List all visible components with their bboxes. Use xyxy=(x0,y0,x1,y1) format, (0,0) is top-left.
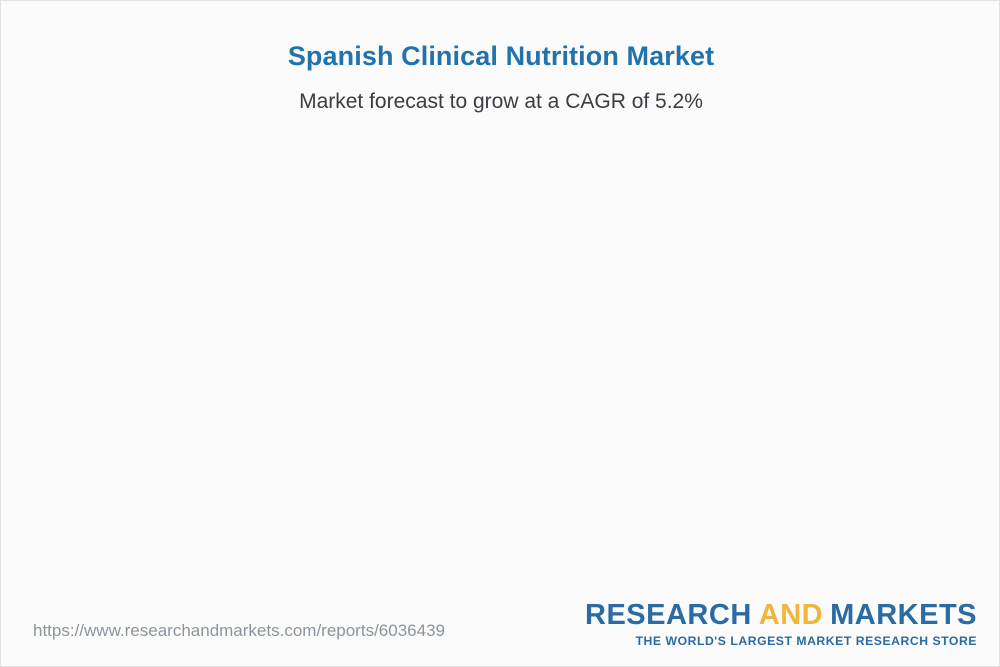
brand-tagline: THE WORLD'S LARGEST MARKET RESEARCH STOR… xyxy=(585,635,977,647)
chart-card: Spanish Clinical Nutrition Market Market… xyxy=(0,0,1000,667)
plot-area: USD 0.48 Million 2023 USD 0.66 Million xyxy=(1,1,1000,601)
brand-word-research: RESEARCH xyxy=(585,599,752,631)
brand-logo[interactable]: RESEARCHANDMARKETS THE WORLD'S LARGEST M… xyxy=(585,601,977,647)
brand-word-markets: MARKETS xyxy=(830,599,977,631)
brand-wordmark: RESEARCHANDMARKETS xyxy=(585,601,977,630)
report-url[interactable]: https://www.researchandmarkets.com/repor… xyxy=(33,621,445,641)
brand-word-and: AND xyxy=(759,599,823,631)
